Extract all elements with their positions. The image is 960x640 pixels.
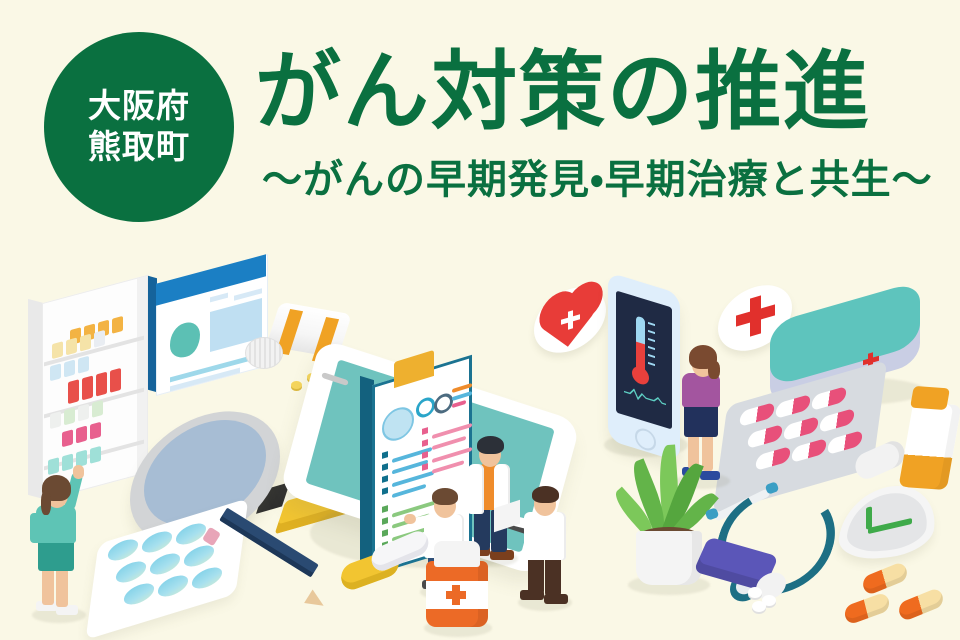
bottle-cap [434, 541, 480, 567]
bottle-cap [910, 386, 950, 410]
page-title: がん対策の推進 [255, 47, 935, 137]
plant-pot [636, 531, 702, 585]
pencil-icon [215, 535, 355, 640]
tablet [752, 601, 766, 612]
illustration-stage [0, 235, 960, 640]
pencil-tip [304, 589, 328, 612]
cross-horizontal [446, 591, 466, 599]
page-subtitle: 〜がんの早期発見・早期治療と共生〜 [262, 158, 942, 202]
heart-cross-badge-icon [534, 285, 610, 357]
orange-capsules-icon [856, 565, 960, 640]
banner-header: 大阪府 熊取町 がん対策の推進 〜がんの早期発見・早期治療と共生〜 [0, 0, 960, 240]
bottle-body [898, 402, 960, 490]
doctor-figure [516, 488, 578, 612]
badge-line-prefecture: 大阪府 [88, 87, 190, 126]
pill-bottle-cap [245, 337, 283, 369]
municipality-badge: 大阪府 熊取町 [44, 32, 234, 222]
purple-pill-bottle-icon [700, 535, 810, 615]
tablet [748, 587, 762, 598]
badge-line-town: 熊取町 [88, 128, 190, 167]
cancer-measures-banner: 大阪府 熊取町 がん対策の推進 〜がんの早期発見・早期治療と共生〜 [0, 0, 960, 640]
orange-medicine-bottle-icon [418, 535, 508, 640]
